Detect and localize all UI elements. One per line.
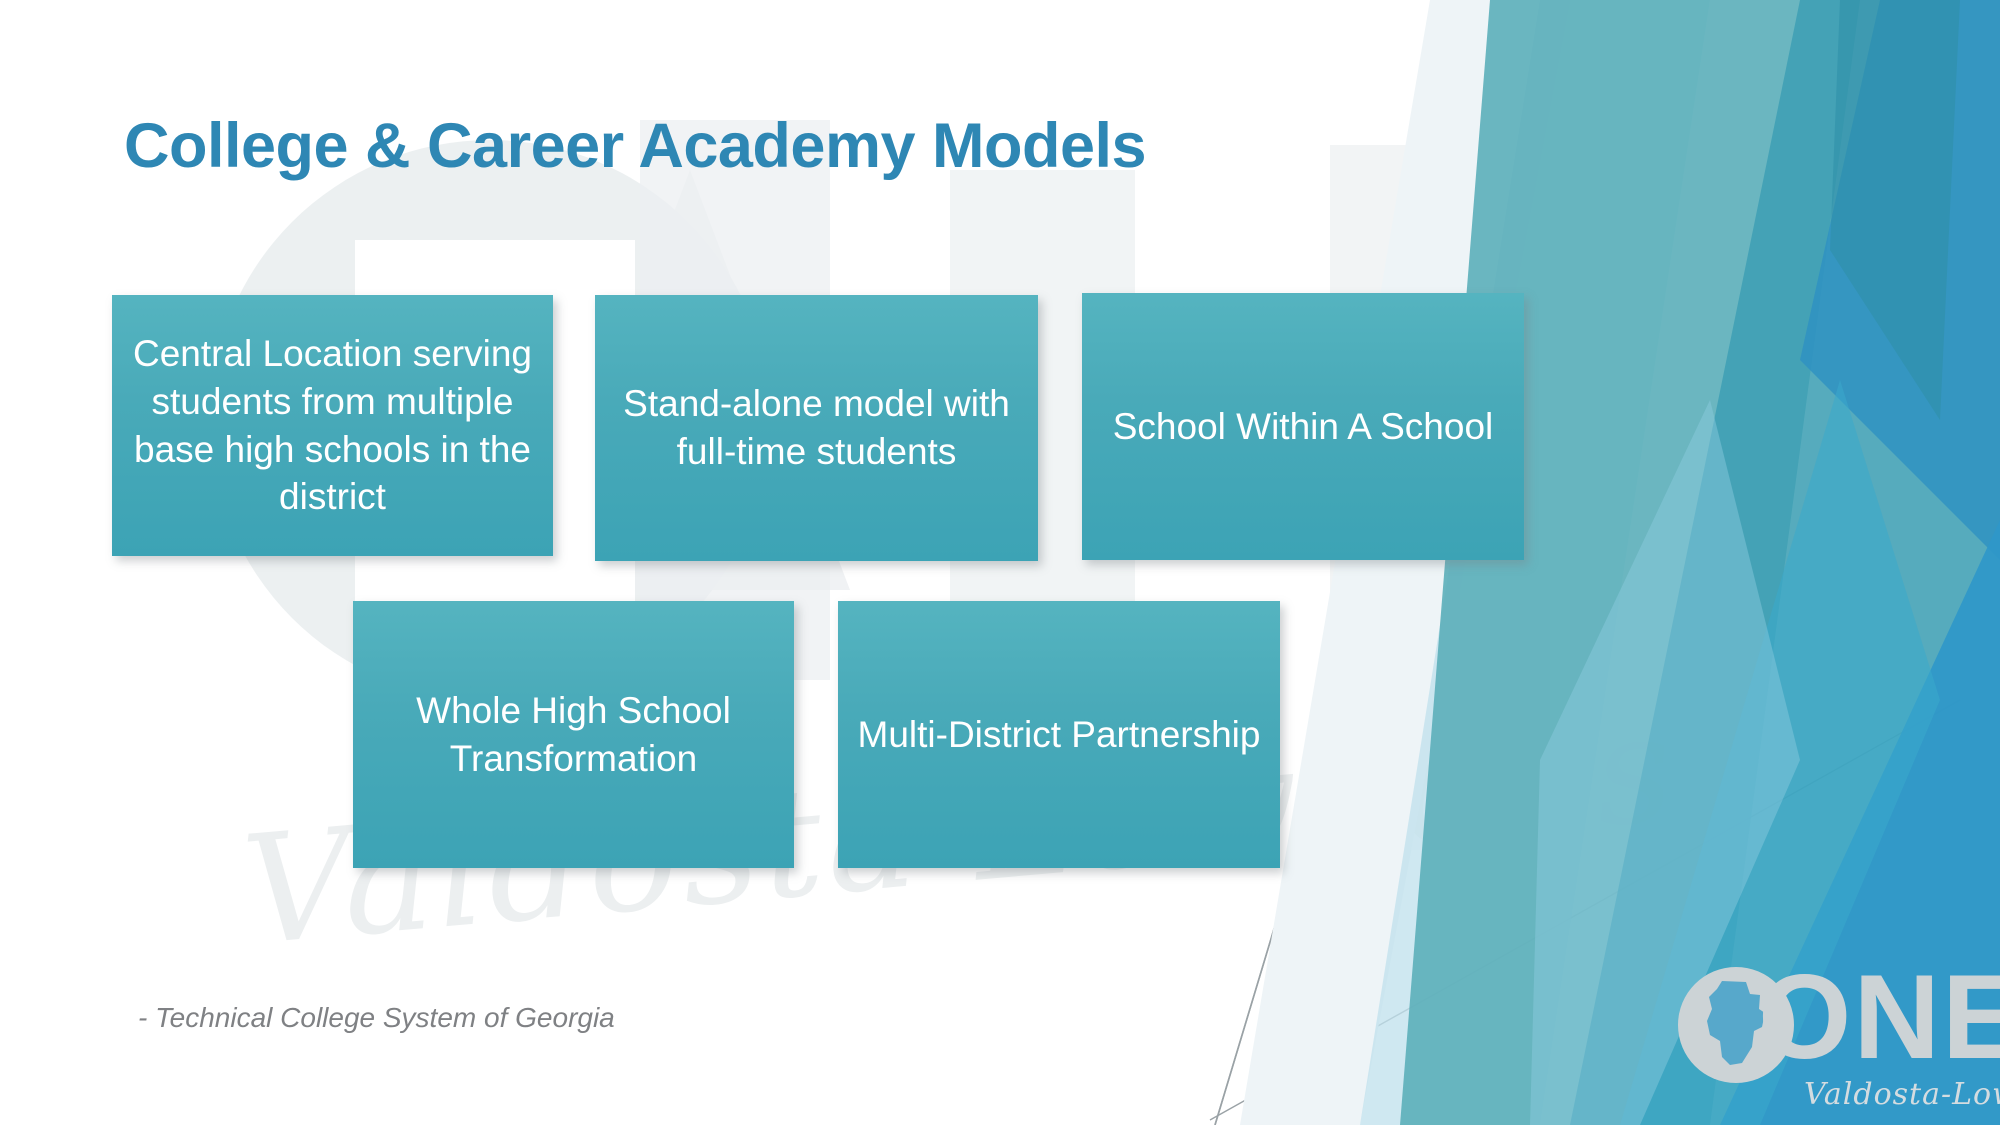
model-box-label: Whole High School Transformation: [367, 687, 780, 782]
slide-canvas: Valdosta-Lowndes College & Career Academ…: [0, 0, 2000, 1125]
model-box-multi-district[interactable]: Multi-District Partnership: [838, 601, 1280, 868]
background-rect-f: [1355, 600, 1550, 850]
model-box-whole-transformation[interactable]: Whole High School Transformation: [353, 601, 794, 868]
model-box-central-location[interactable]: Central Location serving students from m…: [112, 295, 553, 556]
one-logo-script: Valdosta-Lowndes: [1804, 1077, 2000, 1112]
model-box-label: School Within A School: [1096, 403, 1510, 451]
one-logo: ONE Valdosta-Lowndes: [1676, 957, 1986, 1117]
model-box-school-within-school[interactable]: School Within A School: [1082, 293, 1524, 560]
background-rect-e: [1570, 600, 1765, 930]
one-logo-word: ONE: [1758, 957, 2000, 1077]
model-box-label: Stand-alone model with full-time student…: [609, 380, 1024, 475]
decorative-band-pale: [1240, 0, 1570, 1125]
source-attribution: - Technical College System of Georgia: [138, 1002, 615, 1034]
decorative-band-ice: [1360, 0, 1710, 1125]
decorative-band-blue-1: [1800, 0, 2000, 560]
model-box-stand-alone[interactable]: Stand-alone model with full-time student…: [595, 295, 1038, 561]
page-title: College & Career Academy Models: [124, 112, 1146, 181]
model-box-label: Multi-District Partnership: [852, 711, 1266, 759]
decorative-band-deep: [1830, 0, 1960, 420]
model-box-label: Central Location serving students from m…: [126, 330, 539, 521]
